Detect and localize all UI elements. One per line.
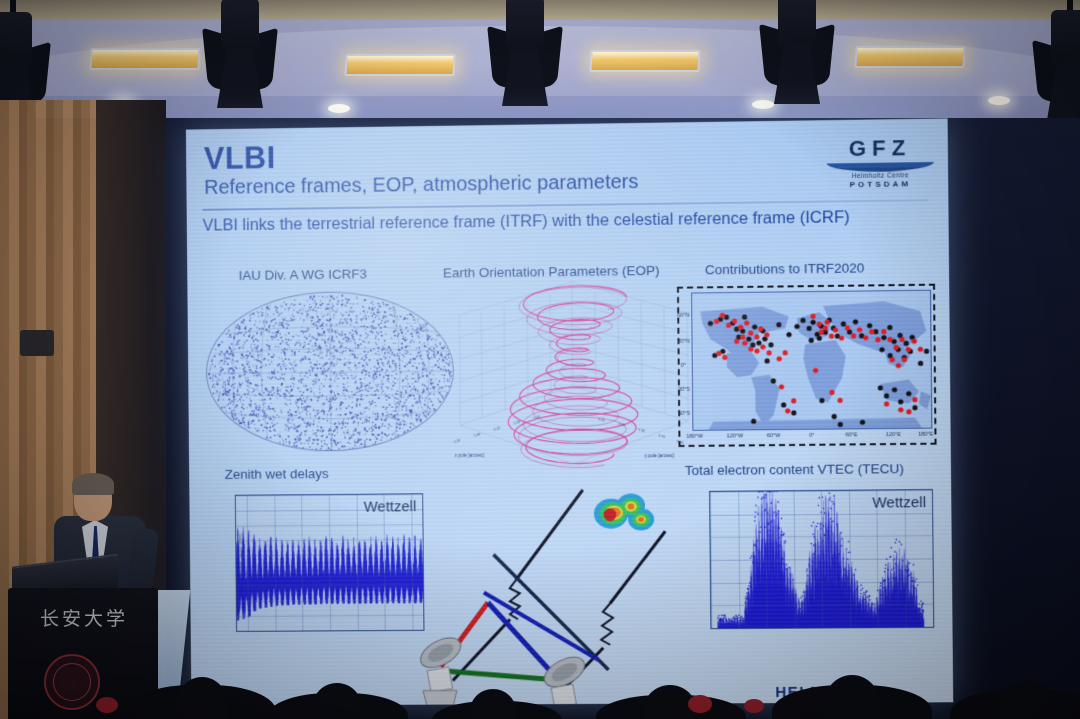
wavefront-ray-1 <box>515 490 584 580</box>
vtec-chart: Wettzell 0204060801001201980198519901995… <box>675 485 941 649</box>
wall-fixture <box>20 330 54 356</box>
stage-light <box>205 0 275 118</box>
svg-text:0.15: 0.15 <box>533 414 541 420</box>
world-map-svg <box>692 291 932 431</box>
decor-flower <box>688 695 712 713</box>
slide-subtitle: Reference frames, EOP, atmospheric param… <box>204 171 638 200</box>
map-ytick: 30°S <box>678 387 690 393</box>
quasar-map-svg <box>591 487 658 542</box>
map-xtick: 120°E <box>886 432 901 438</box>
panel-label-zwd: Zenith wet delays <box>225 466 329 482</box>
slide-title: VLBI <box>204 140 276 177</box>
map-ytick: 60°N <box>677 313 689 319</box>
speaker-hair <box>72 473 114 495</box>
svg-text:0.35: 0.35 <box>638 427 646 433</box>
zenith-wet-delay-chart: Zenith non-hydrostatic delay [mm] Wettze… <box>201 489 430 652</box>
svg-text:0.40: 0.40 <box>658 433 666 439</box>
vtec-site-label: Wettzell <box>872 494 926 512</box>
icrf3-sky-plot <box>205 290 454 452</box>
map-xtick: 0° <box>809 433 814 439</box>
map-ytick: 60°S <box>678 411 690 417</box>
audience-head <box>312 683 362 719</box>
downlight <box>988 96 1010 105</box>
map-xtick: 180°W <box>686 434 702 440</box>
decor-flower <box>744 699 764 713</box>
eop-spiral-svg: 0.35 0.30 0.25 0.20 0.15 0.25 0.30 0.35 … <box>447 272 699 475</box>
svg-text:0.25: 0.25 <box>493 426 501 432</box>
stage-light <box>1035 10 1080 130</box>
icrf3-ellipse <box>205 290 454 452</box>
fluorescent-light <box>89 48 200 70</box>
svg-text:0.30: 0.30 <box>618 422 626 428</box>
slide-lead-text: VLBI links the terrestrial reference fra… <box>203 207 933 235</box>
fluorescent-light <box>854 46 965 68</box>
map-ytick: 30°N <box>677 339 689 345</box>
wavefront-ray-2 <box>609 531 666 603</box>
wave-squiggle-2 <box>601 604 613 645</box>
svg-text:0.25: 0.25 <box>598 417 606 423</box>
gfz-wordmark: GFZ <box>826 135 933 163</box>
map-xtick: 60°W <box>767 433 780 439</box>
audience-head <box>176 677 228 719</box>
stage-light <box>762 0 832 114</box>
audience-head <box>470 689 516 719</box>
gfz-location: POTSDAM <box>827 179 934 189</box>
gfz-logo: GFZ Helmholtz Centre POTSDAM <box>826 135 934 190</box>
vtec-plot-area: Wettzell 0204060801001201980198519901995… <box>709 489 934 629</box>
projection-screen: VLBI Reference frames, EOP, atmospheric … <box>186 118 953 705</box>
quasar-radio-map <box>591 487 658 542</box>
panel-label-itrf: Contributions to ITRF2020 <box>705 260 865 277</box>
fluorescent-light <box>344 54 455 76</box>
gridline-v <box>932 490 934 627</box>
itrf2020-map: 60°N 30°N 0° 30°S 60°S 180°W 120°W 60°W … <box>677 284 937 447</box>
zwd-plot-area: Wettzell -100-50050100150200250300350198… <box>235 493 425 632</box>
svg-text:0.30: 0.30 <box>473 432 481 438</box>
icrf3-sources-svg <box>206 291 454 452</box>
stage-light <box>490 0 560 116</box>
panel-label-vtec: Total electron content VTEC (TECU) <box>685 461 904 478</box>
map-xtick: 180°E <box>918 432 933 438</box>
map-canvas <box>691 290 932 431</box>
eop-xaxis-label: x pole [arcsec] <box>455 453 485 458</box>
panel-label-icrf: IAU Div. A WG ICRF3 <box>239 266 367 282</box>
lecture-hall-scene: VLBI Reference frames, EOP, atmospheric … <box>0 0 1080 719</box>
audience-head <box>824 675 880 719</box>
map-xtick: 60°E <box>845 432 857 438</box>
eop-polar-motion-plot: 0.35 0.30 0.25 0.20 0.15 0.25 0.30 0.35 … <box>447 272 699 475</box>
audience <box>0 647 1080 719</box>
map-ytick: 0° <box>681 363 686 369</box>
decor-flower <box>96 697 118 713</box>
svg-text:0.35: 0.35 <box>454 438 462 444</box>
eop-yaxis-label: y pole [arcsec] <box>644 453 674 458</box>
podium-institution-name: 长安大学 <box>24 604 144 631</box>
map-xtick: 120°W <box>727 433 743 439</box>
downlight <box>328 104 350 113</box>
svg-text:0.20: 0.20 <box>513 420 521 426</box>
eop-grid <box>459 281 689 465</box>
audience-head <box>1000 681 1054 719</box>
gfz-arc-icon <box>827 162 934 173</box>
fluorescent-light <box>589 50 700 72</box>
